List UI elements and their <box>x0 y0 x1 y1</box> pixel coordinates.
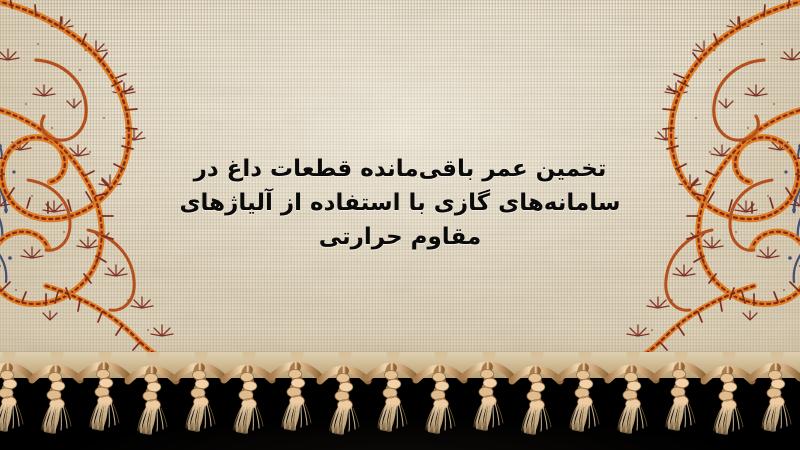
title-line-3: مقاوم حرارتی <box>0 220 800 254</box>
tassel-fringe <box>0 360 800 450</box>
slide-title: تخمین عمر باقی‌مانده قطعات داغ در سامانه… <box>0 152 800 254</box>
title-slide: تخمین عمر باقی‌مانده قطعات داغ در سامانه… <box>0 0 800 450</box>
tassel-row <box>0 365 800 435</box>
title-line-1: تخمین عمر باقی‌مانده قطعات داغ در <box>0 152 800 186</box>
title-line-2: سامانه‌های گازی با استفاده از آلیاژهای <box>0 186 800 220</box>
